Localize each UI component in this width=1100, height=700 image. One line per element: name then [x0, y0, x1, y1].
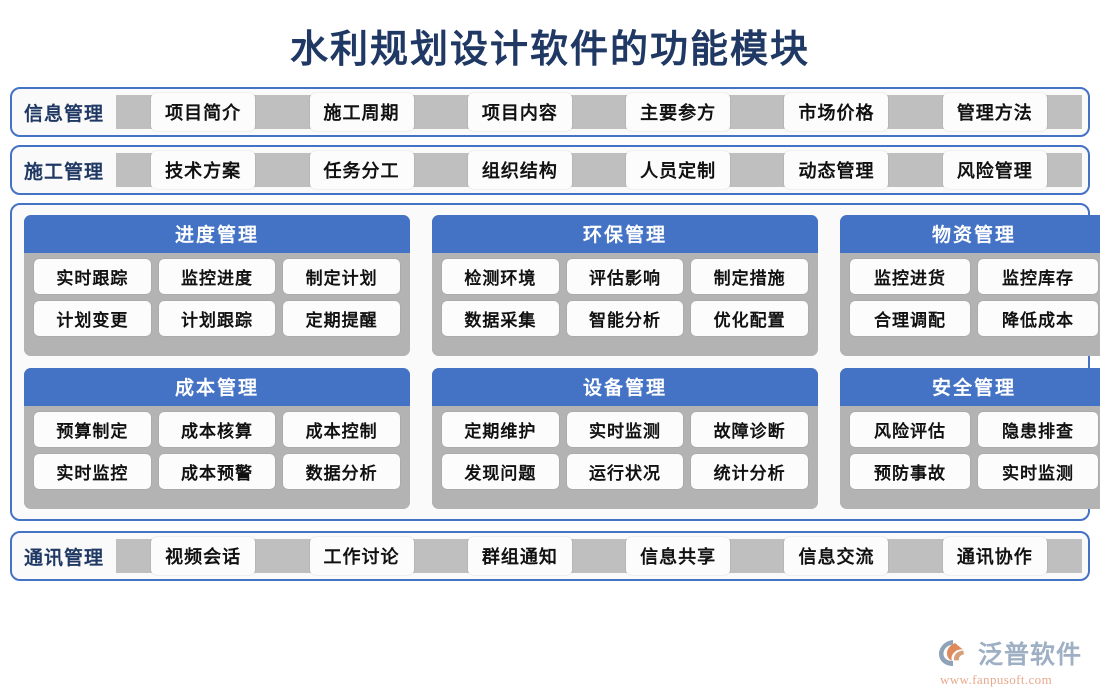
brand-logo-top: 泛普软件	[938, 635, 1082, 671]
module-materials-item-3[interactable]: 降低成本	[978, 301, 1098, 336]
construction-item-5[interactable]: 风险管理	[943, 151, 1047, 189]
module-panel-environment-row-1: 检测环境 评估影响 制定措施	[442, 259, 808, 294]
module-environment-item-5[interactable]: 优化配置	[691, 301, 808, 336]
info-item-3[interactable]: 主要参方	[626, 93, 730, 131]
module-panel-materials-body: 监控进货 监控库存 合理调配 降低成本	[840, 253, 1100, 356]
module-panel-materials-row-1: 监控进货 监控库存	[850, 259, 1098, 294]
module-panel-equipment-row-1: 定期维护 实时监测 故障诊断	[442, 412, 808, 447]
module-equipment-item-3[interactable]: 发现问题	[442, 454, 559, 489]
comms-item-4[interactable]: 信息交流	[784, 537, 888, 575]
fanpu-swoosh-logo-icon	[938, 638, 972, 668]
construction-item-1[interactable]: 任务分工	[310, 151, 414, 189]
communications-management-label: 通讯管理	[12, 543, 116, 570]
module-environment-item-4[interactable]: 智能分析	[567, 301, 684, 336]
module-materials-item-2[interactable]: 合理调配	[850, 301, 970, 336]
module-cost-item-3[interactable]: 实时监控	[34, 454, 151, 489]
module-equipment-item-4[interactable]: 运行状况	[567, 454, 684, 489]
construction-management-items: 技术方案 任务分工 组织结构 人员定制 动态管理 风险管理	[116, 153, 1082, 187]
module-equipment-item-0[interactable]: 定期维护	[442, 412, 559, 447]
module-panel-safety-row-2: 预防事故 实时监测	[850, 454, 1098, 489]
construction-management-row: 施工管理 技术方案 任务分工 组织结构 人员定制 动态管理 风险管理	[10, 145, 1090, 195]
module-panel-progress-title: 进度管理	[24, 215, 410, 253]
module-safety-item-2[interactable]: 预防事故	[850, 454, 970, 489]
module-progress-item-2[interactable]: 制定计划	[283, 259, 400, 294]
module-panel-equipment-row-2: 发现问题 运行状况 统计分析	[442, 454, 808, 489]
module-cost-item-5[interactable]: 数据分析	[283, 454, 400, 489]
module-safety-item-3[interactable]: 实时监测	[978, 454, 1098, 489]
info-management-label: 信息管理	[12, 99, 116, 126]
communications-management-row: 通讯管理 视频会话 工作讨论 群组通知 信息共享 信息交流 通讯协作	[10, 531, 1090, 581]
module-panel-progress-row-2: 计划变更 计划跟踪 定期提醒	[34, 301, 400, 336]
module-panel-environment-body: 检测环境 评估影响 制定措施 数据采集 智能分析 优化配置	[432, 253, 818, 356]
info-management-items: 项目简介 施工周期 项目内容 主要参方 市场价格 管理方法	[116, 95, 1082, 129]
comms-item-2[interactable]: 群组通知	[468, 537, 572, 575]
module-panel-materials-row-2: 合理调配 降低成本	[850, 301, 1098, 336]
construction-item-0[interactable]: 技术方案	[151, 151, 255, 189]
comms-item-1[interactable]: 工作讨论	[310, 537, 414, 575]
module-panel-environment: 环保管理 检测环境 评估影响 制定措施 数据采集 智能分析 优化配置	[432, 215, 818, 356]
module-panel-progress: 进度管理 实时跟踪 监控进度 制定计划 计划变更 计划跟踪 定期提醒	[24, 215, 410, 356]
module-panel-cost-body: 预算制定 成本核算 成本控制 实时监控 成本预警 数据分析	[24, 406, 410, 509]
module-panel-safety-row-1: 风险评估 隐患排查	[850, 412, 1098, 447]
module-safety-item-1[interactable]: 隐患排查	[978, 412, 1098, 447]
module-panels-container: 进度管理 实时跟踪 监控进度 制定计划 计划变更 计划跟踪 定期提醒 环保管理	[10, 203, 1090, 521]
info-item-2[interactable]: 项目内容	[468, 93, 572, 131]
construction-management-label: 施工管理	[12, 157, 116, 184]
info-management-row: 信息管理 项目简介 施工周期 项目内容 主要参方 市场价格 管理方法	[10, 87, 1090, 137]
module-environment-item-2[interactable]: 制定措施	[691, 259, 808, 294]
module-panel-equipment-body: 定期维护 实时监测 故障诊断 发现问题 运行状况 统计分析	[432, 406, 818, 509]
module-materials-item-1[interactable]: 监控库存	[978, 259, 1098, 294]
module-panel-safety: 安全管理 风险评估 隐患排查 预防事故 实时监测	[840, 368, 1100, 509]
brand-logo-text: 泛普软件	[978, 635, 1082, 671]
module-panel-cost: 成本管理 预算制定 成本核算 成本控制 实时监控 成本预警 数据分析	[24, 368, 410, 509]
construction-item-2[interactable]: 组织结构	[468, 151, 572, 189]
construction-item-3[interactable]: 人员定制	[626, 151, 730, 189]
module-progress-item-3[interactable]: 计划变更	[34, 301, 151, 336]
module-materials-item-0[interactable]: 监控进货	[850, 259, 970, 294]
module-panel-cost-row-2: 实时监控 成本预警 数据分析	[34, 454, 400, 489]
module-panel-progress-row-1: 实时跟踪 监控进度 制定计划	[34, 259, 400, 294]
comms-item-0[interactable]: 视频会话	[151, 537, 255, 575]
construction-item-4[interactable]: 动态管理	[784, 151, 888, 189]
module-grid: 进度管理 实时跟踪 监控进度 制定计划 计划变更 计划跟踪 定期提醒 环保管理	[24, 215, 1076, 509]
communications-management-items: 视频会话 工作讨论 群组通知 信息共享 信息交流 通讯协作	[116, 539, 1082, 573]
module-panel-equipment: 设备管理 定期维护 实时监测 故障诊断 发现问题 运行状况 统计分析	[432, 368, 818, 509]
module-panel-cost-row-1: 预算制定 成本核算 成本控制	[34, 412, 400, 447]
brand-logo: 泛普软件 www.fanpusoft.com	[938, 635, 1082, 688]
module-panel-environment-title: 环保管理	[432, 215, 818, 253]
module-cost-item-1[interactable]: 成本核算	[159, 412, 276, 447]
module-panel-materials: 物资管理 监控进货 监控库存 合理调配 降低成本	[840, 215, 1100, 356]
info-item-5[interactable]: 管理方法	[943, 93, 1047, 131]
module-panel-materials-title: 物资管理	[840, 215, 1100, 253]
comms-item-3[interactable]: 信息共享	[626, 537, 730, 575]
brand-logo-url: www.fanpusoft.com	[940, 672, 1052, 688]
module-equipment-item-1[interactable]: 实时监测	[567, 412, 684, 447]
info-item-1[interactable]: 施工周期	[310, 93, 414, 131]
page-title: 水利规划设计软件的功能模块	[0, 0, 1100, 87]
module-environment-item-0[interactable]: 检测环境	[442, 259, 559, 294]
module-cost-item-2[interactable]: 成本控制	[283, 412, 400, 447]
module-cost-item-4[interactable]: 成本预警	[159, 454, 276, 489]
module-cost-item-0[interactable]: 预算制定	[34, 412, 151, 447]
module-panel-equipment-title: 设备管理	[432, 368, 818, 406]
infographic-page: 水利规划设计软件的功能模块 信息管理 项目简介 施工周期 项目内容 主要参方 市…	[0, 0, 1100, 700]
info-item-4[interactable]: 市场价格	[784, 93, 888, 131]
info-item-0[interactable]: 项目简介	[151, 93, 255, 131]
module-equipment-item-5[interactable]: 统计分析	[691, 454, 808, 489]
module-panel-environment-row-2: 数据采集 智能分析 优化配置	[442, 301, 808, 336]
module-equipment-item-2[interactable]: 故障诊断	[691, 412, 808, 447]
module-progress-item-1[interactable]: 监控进度	[159, 259, 276, 294]
module-panel-safety-title: 安全管理	[840, 368, 1100, 406]
module-panel-cost-title: 成本管理	[24, 368, 410, 406]
module-progress-item-0[interactable]: 实时跟踪	[34, 259, 151, 294]
module-environment-item-3[interactable]: 数据采集	[442, 301, 559, 336]
module-safety-item-0[interactable]: 风险评估	[850, 412, 970, 447]
module-progress-item-5[interactable]: 定期提醒	[283, 301, 400, 336]
module-panel-safety-body: 风险评估 隐患排查 预防事故 实时监测	[840, 406, 1100, 509]
module-panel-progress-body: 实时跟踪 监控进度 制定计划 计划变更 计划跟踪 定期提醒	[24, 253, 410, 356]
module-environment-item-1[interactable]: 评估影响	[567, 259, 684, 294]
module-progress-item-4[interactable]: 计划跟踪	[159, 301, 276, 336]
comms-item-5[interactable]: 通讯协作	[943, 537, 1047, 575]
